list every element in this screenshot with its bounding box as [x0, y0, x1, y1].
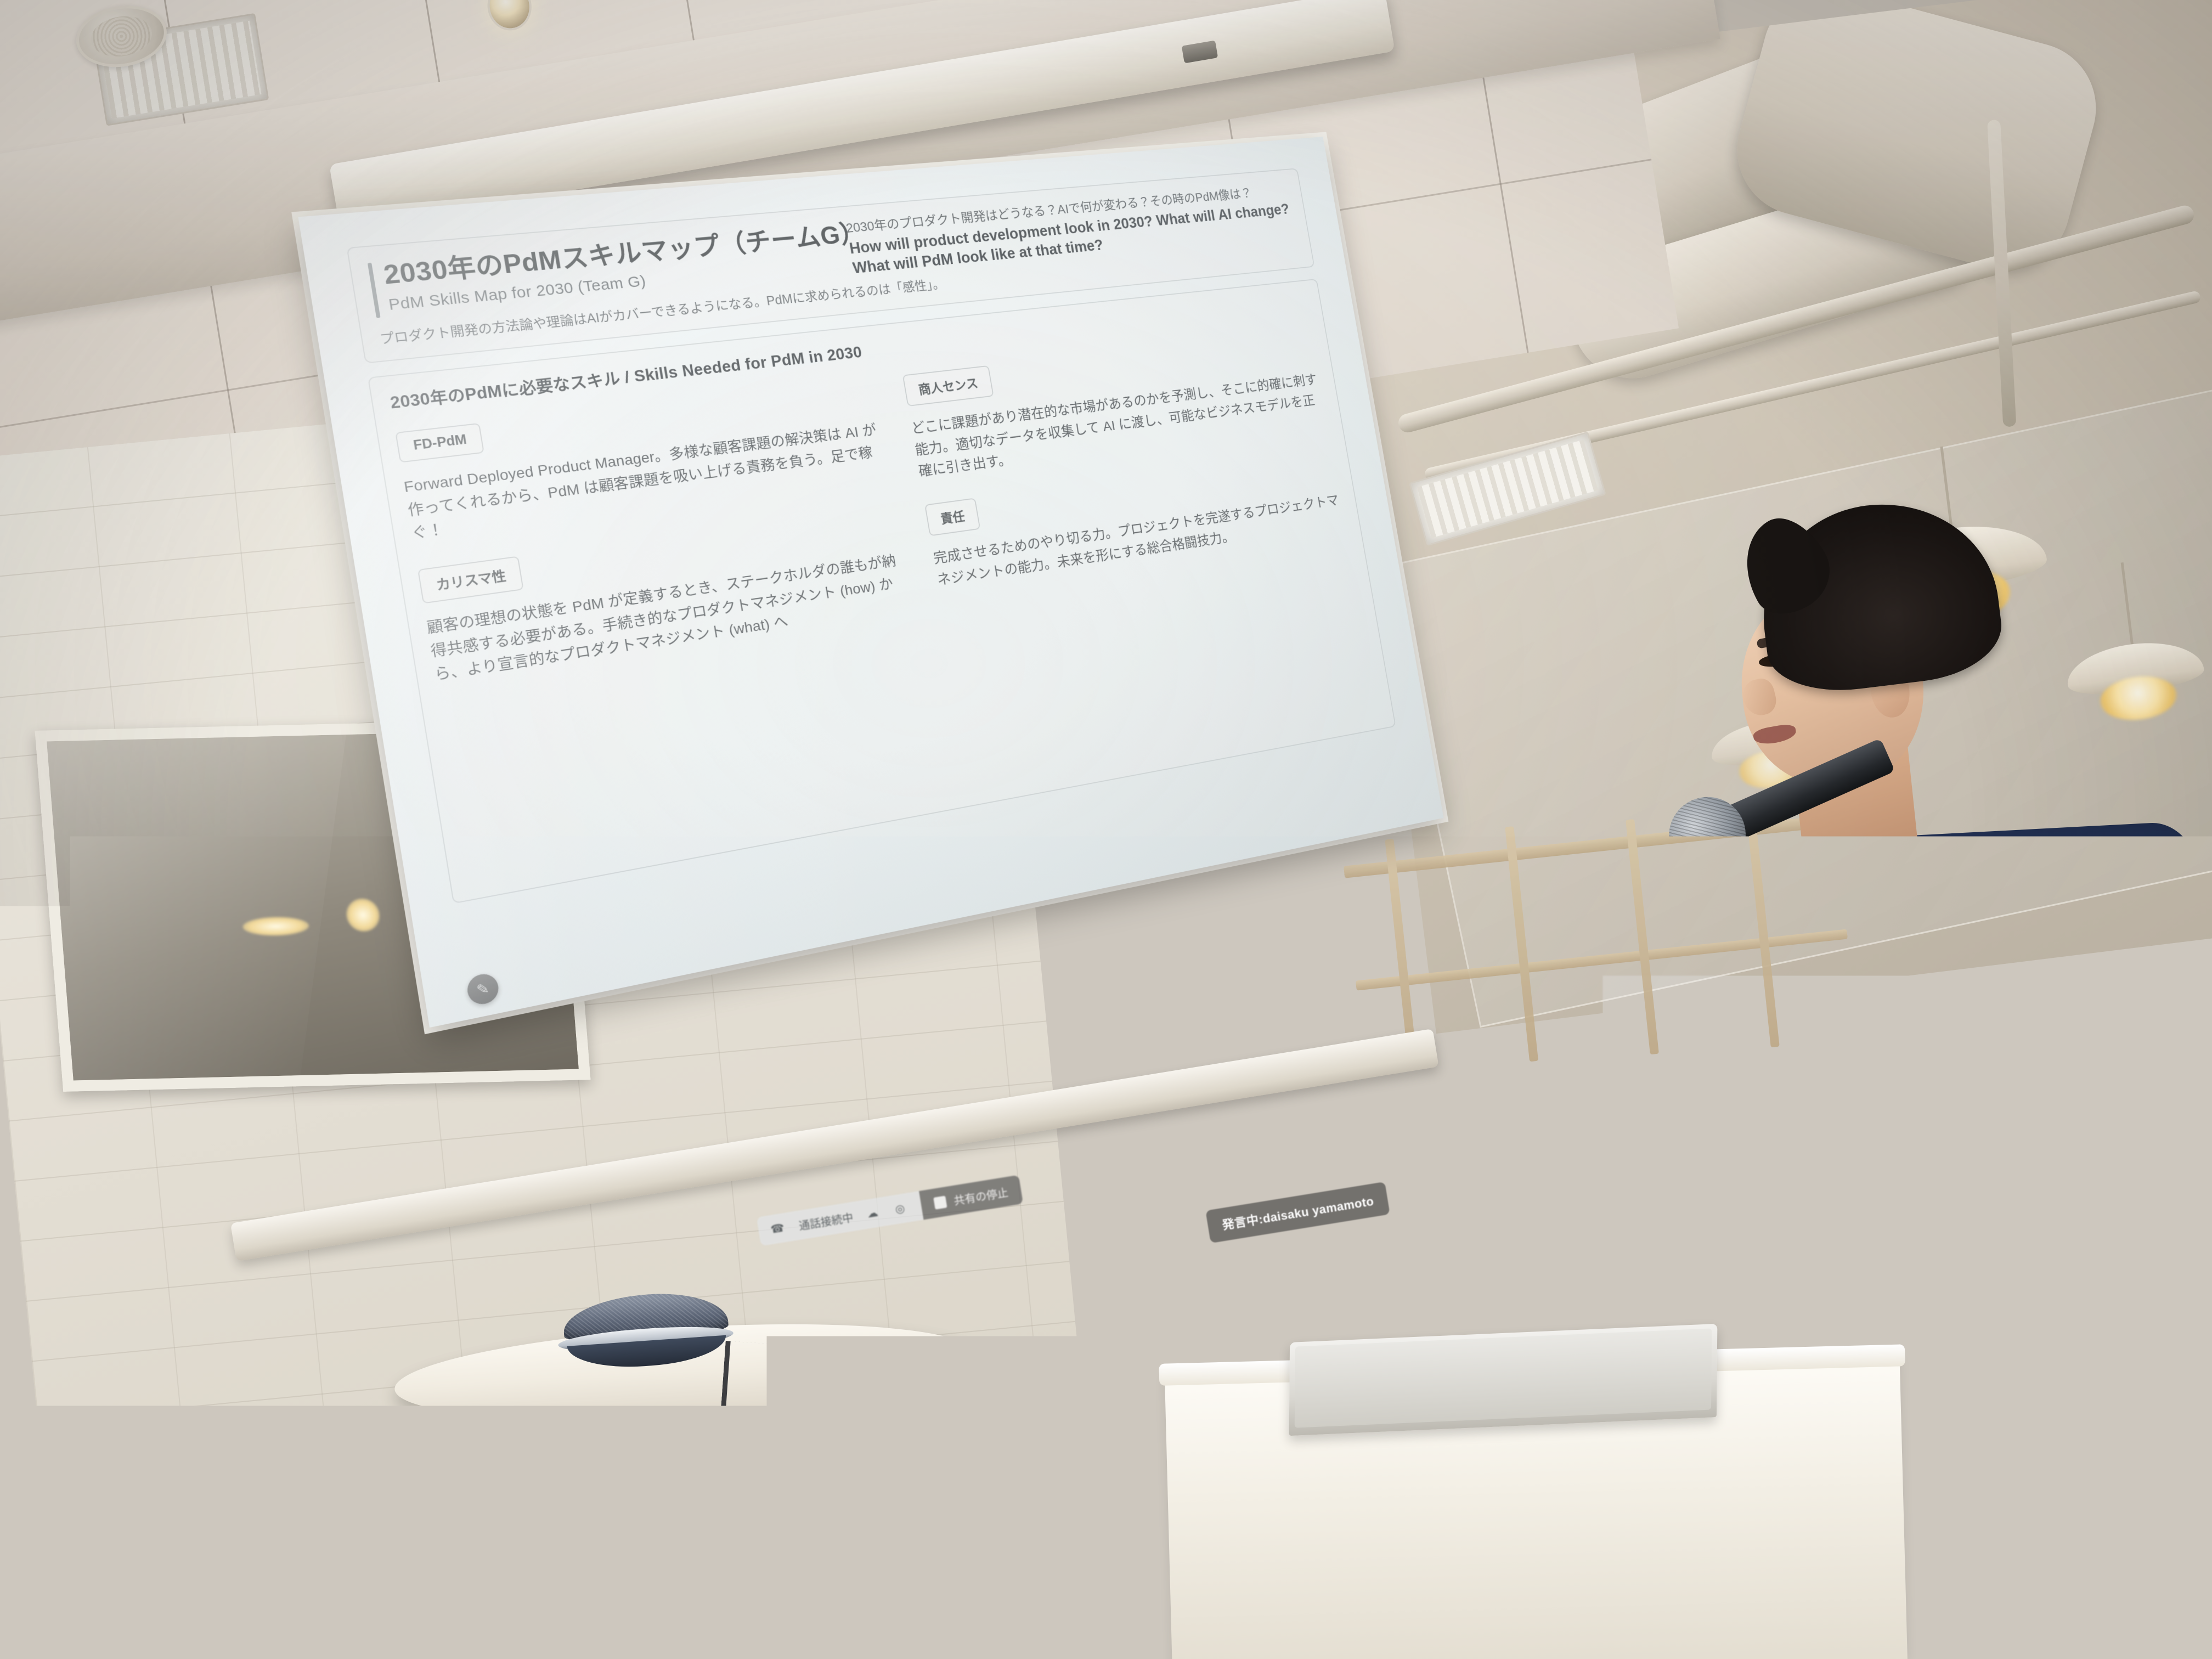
- presenter: MARIO KART UNIVERSAL STUDIO: [1635, 505, 2212, 1659]
- skills-section: 2030年のPdMに必要なスキル / Skills Needed for PdM…: [368, 279, 1396, 904]
- conference-speakerphone[interactable]: [552, 1289, 737, 1373]
- slide-content: 2030年のPdMスキルマップ（チームG） PdM Skills Map for…: [298, 137, 1443, 1028]
- skills-column-left: FD-PdM Forward Deployed Product Manager。…: [395, 379, 915, 687]
- screen-share-icon: [933, 1195, 947, 1209]
- title-accent-bar: [368, 263, 381, 318]
- skills-column-right: 商人センス どこに課題があり潜在的な市場があるのかを予測し、そこに的確に刺す能力…: [902, 329, 1351, 609]
- photo-scene: 2030年のPdMスキルマップ（チームG） PdM Skills Map for…: [0, 0, 2212, 1659]
- stop-share-label: 共有の停止: [952, 1183, 1009, 1208]
- skill-body: 完成させるためのやり切る力。プロジェクトを完遂するプロジェクトマネジメントの能力…: [932, 490, 1348, 591]
- more-icon[interactable]: ◎: [894, 1200, 911, 1217]
- camera-icon[interactable]: ☁: [866, 1205, 882, 1221]
- skill-chip: カリスマ性: [417, 556, 524, 604]
- skill-chip: 責任: [924, 498, 980, 537]
- pen-icon[interactable]: ✎: [465, 972, 500, 1007]
- projection-screen: 2030年のPdMスキルマップ（チームG） PdM Skills Map for…: [296, 27, 1605, 1286]
- screen-control-button[interactable]: [1182, 41, 1218, 64]
- skill-chip: FD-PdM: [395, 423, 484, 463]
- call-status-label: 通話接続中: [798, 1209, 854, 1233]
- phone-icon[interactable]: ☎: [770, 1221, 786, 1237]
- skill-chip: 商人センス: [902, 365, 994, 407]
- active-speaker-chip: 発言中:daisaku yamamoto: [1205, 1182, 1390, 1243]
- name-badge: [1867, 1127, 2067, 1326]
